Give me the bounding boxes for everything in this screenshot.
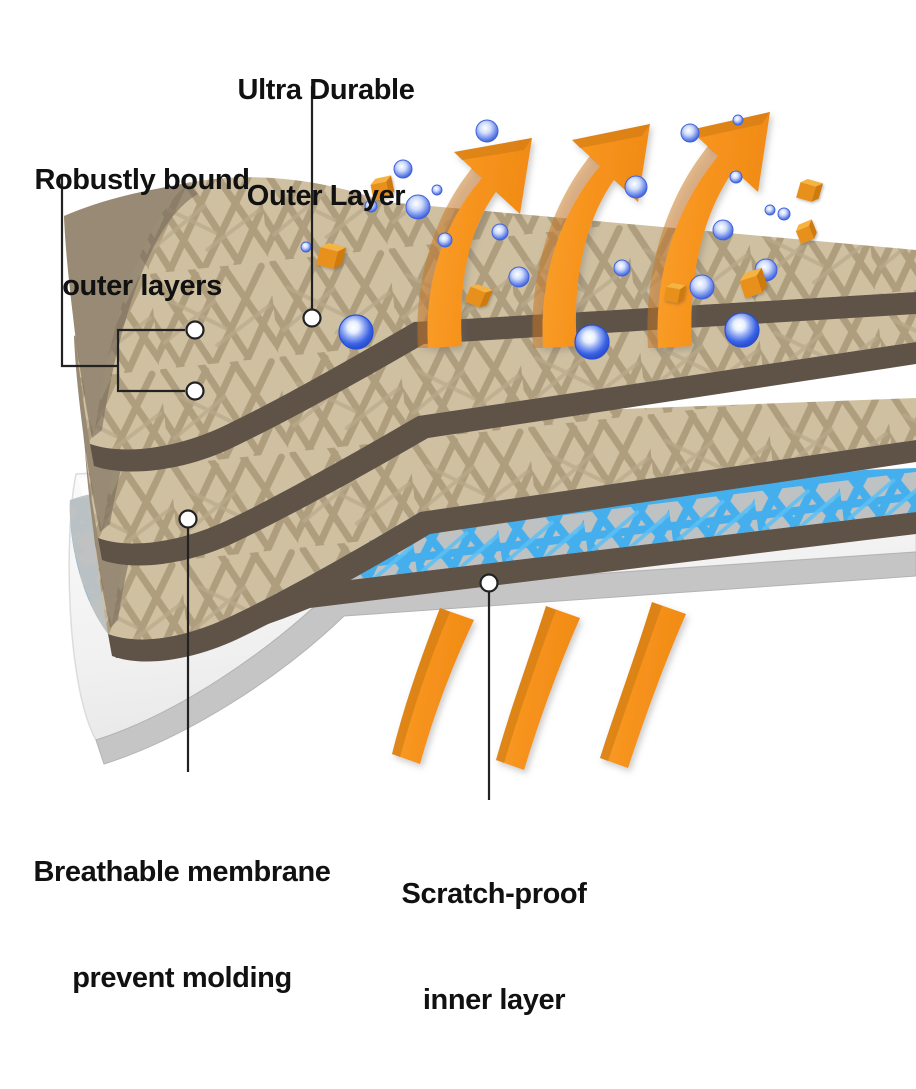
layered-fabric-diagram: Ultra Durable Outer Layer Robustly bound… [0,0,916,902]
label-breathable-membrane: Breathable membrane prevent molding [8,784,356,1067]
label-line-1: Scratch-proof [368,877,620,912]
inner-airflow-arrows [392,602,686,770]
label-scratch-proof-inner-layer: Scratch-proof inner layer [368,806,620,1089]
leader-scratch-proof [481,575,498,801]
label-line-2: prevent molding [8,961,356,996]
label-robustly-bound-outer-layers: Robustly bound outer layers [8,92,276,375]
label-line-2: inner layer [368,983,620,1018]
label-line-1: Breathable membrane [8,855,356,890]
label-line-1: Robustly bound [8,163,276,198]
label-line-2: outer layers [8,269,276,304]
